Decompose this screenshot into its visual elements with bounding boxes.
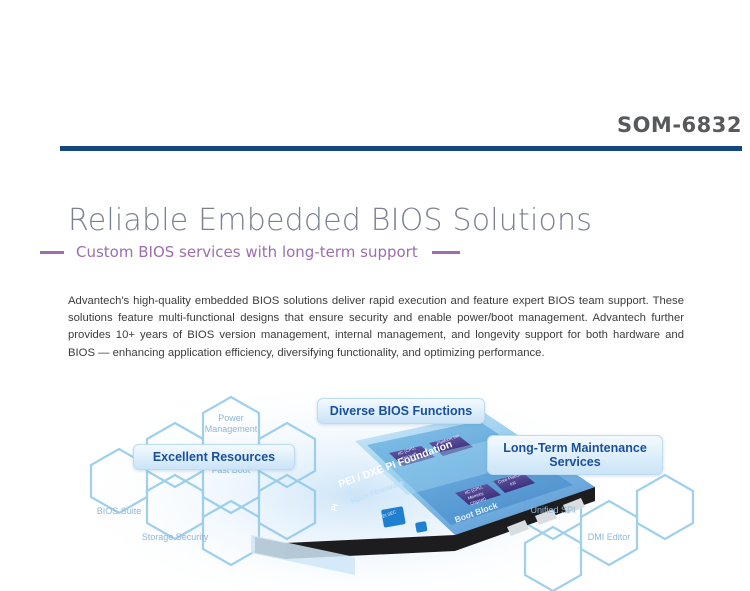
page-subtitle: Custom BIOS services with long-term supp… (64, 243, 428, 261)
accent-dash-right-icon (432, 251, 460, 254)
subtitle-row: Custom BIOS services with long-term supp… (40, 241, 460, 263)
callout-excellent-resources[interactable]: Excellent Resources (133, 444, 295, 470)
bios-architecture-diagram: Power Management Fast Boot BIOS Suite St… (55, 375, 695, 591)
page-title: Reliable Embedded BIOS Solutions (68, 203, 592, 238)
header-divider (60, 146, 742, 151)
callout-diverse-bios-functions[interactable]: Diverse BIOS Functions (317, 398, 485, 424)
accent-dash-left-icon (40, 251, 64, 254)
callout-long-term-maintenance-services[interactable]: Long-Term Maintenance Services (487, 435, 663, 475)
body-paragraph: Advantech's high-quality embedded BIOS s… (68, 293, 684, 362)
model-number: SOM-6832 (617, 113, 742, 137)
